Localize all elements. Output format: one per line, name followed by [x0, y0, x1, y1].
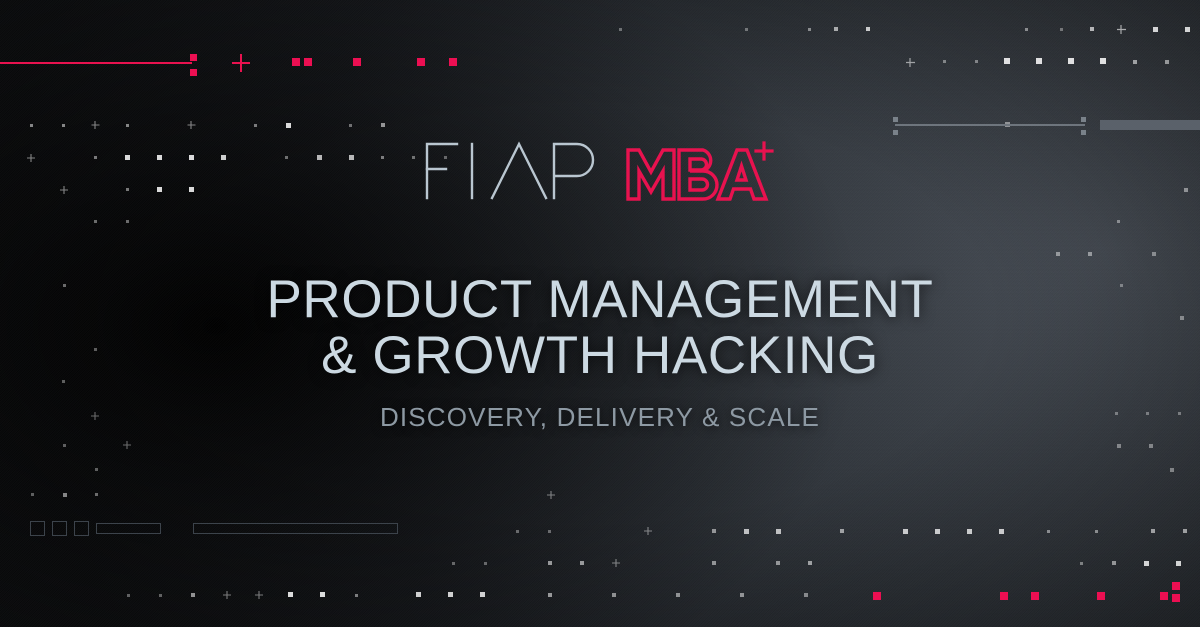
promo-banner: PRODUCT MANAGEMENT & GROWTH HACKING DISC…	[0, 0, 1200, 627]
brand-lockup	[0, 140, 1200, 202]
page-title: PRODUCT MANAGEMENT & GROWTH HACKING	[0, 272, 1200, 384]
headline-block: PRODUCT MANAGEMENT & GROWTH HACKING DISC…	[0, 272, 1200, 433]
headline-line-1: PRODUCT MANAGEMENT	[266, 270, 933, 329]
mba-plus-logo	[625, 140, 777, 202]
plus-superscript-icon	[756, 143, 772, 159]
banner-content: PRODUCT MANAGEMENT & GROWTH HACKING DISC…	[0, 0, 1200, 627]
headline-line-2: & GROWTH HACKING	[0, 328, 1200, 384]
fiap-logo	[423, 140, 599, 200]
subtitle: DISCOVERY, DELIVERY & SCALE	[0, 402, 1200, 433]
